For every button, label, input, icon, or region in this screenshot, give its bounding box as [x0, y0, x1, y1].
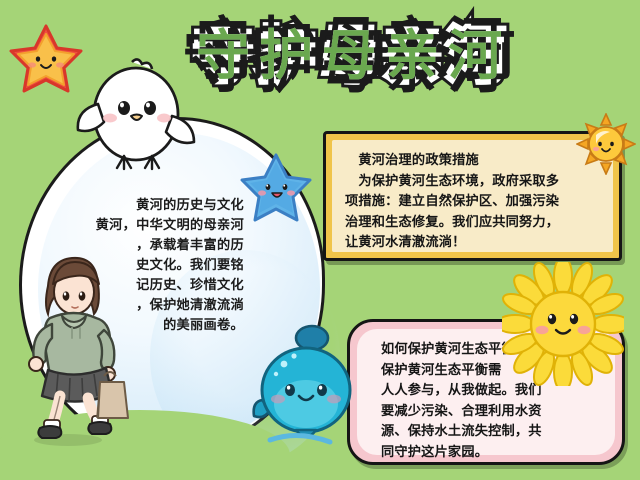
bird-icon	[72, 56, 200, 174]
poster-title: 守护母亲河 守护母亲河 守护母亲河	[196, 18, 546, 94]
water-droplet-character-icon	[252, 322, 360, 450]
sunflower-icon	[502, 262, 624, 386]
policy-card-text: 黄河治理的政策措施 为保护黄河生态环境，政府采取多 项措施：建立自然保护区、加强…	[345, 151, 603, 254]
girl-illustration	[26, 252, 130, 448]
title-text: 守护母亲河	[196, 18, 511, 94]
blue-star-icon	[240, 152, 312, 222]
policy-card-inner: 黄河治理的政策措施 为保护黄河生态环境，政府采取多 项措施：建立自然保护区、加强…	[332, 140, 613, 252]
poster-canvas: 守护母亲河 守护母亲河 守护母亲河 黄河的历史与文化 黄河，中华文明的母亲河 ，…	[0, 0, 640, 480]
sun-icon	[576, 113, 636, 175]
